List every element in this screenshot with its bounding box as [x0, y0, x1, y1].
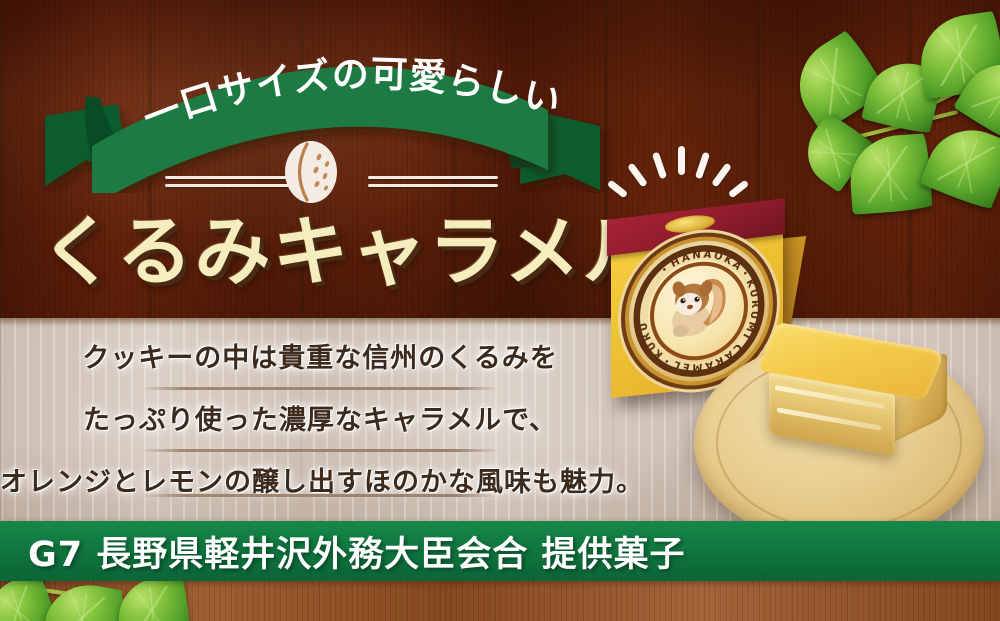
ivy-leaf	[40, 578, 125, 621]
award-banner: G7 長野県軽井沢外務大臣会合 提供菓子	[0, 521, 1000, 581]
sparkle-lines	[612, 138, 742, 200]
caramel-cookie-bar	[767, 335, 957, 465]
product-title: くるみキャラメル	[40, 204, 640, 300]
divider-rule-left	[165, 176, 290, 179]
description-rule	[141, 387, 499, 390]
description-line: オレンジとレモンの醸し出すほのかな風味も魅力。	[0, 456, 640, 510]
description-line: たっぷり使った濃厚なキャラメルで、	[0, 394, 640, 448]
divider-rule-right	[368, 176, 498, 179]
cake-layer	[777, 407, 881, 430]
divider-rule-left	[165, 184, 290, 187]
product-banner: 一口サイズの可愛らしいクッキー くるみキャラメル	[0, 0, 1000, 621]
divider-rule-right	[368, 184, 498, 187]
description-rule	[141, 494, 499, 497]
description-block: クッキーの中は貴重な信州のくるみを たっぷり使った濃厚なキャラメルで、 オレンジ…	[0, 332, 640, 510]
award-banner-text: G7 長野県軽井沢外務大臣会合 提供菓子	[0, 526, 685, 577]
sparkle-line	[695, 152, 710, 180]
walnut-icon	[283, 140, 339, 204]
ivy-leaf	[115, 578, 192, 621]
ivy-decoration-bottom-left	[0, 578, 210, 621]
description-line: クッキーの中は貴重な信州のくるみを	[0, 332, 640, 386]
sparkle-line	[627, 162, 648, 187]
sparkle-line	[678, 146, 685, 175]
squirrel-illustration	[670, 274, 725, 338]
sparkle-line	[711, 162, 732, 187]
sparkle-line	[652, 152, 667, 180]
description-rule	[141, 449, 499, 452]
